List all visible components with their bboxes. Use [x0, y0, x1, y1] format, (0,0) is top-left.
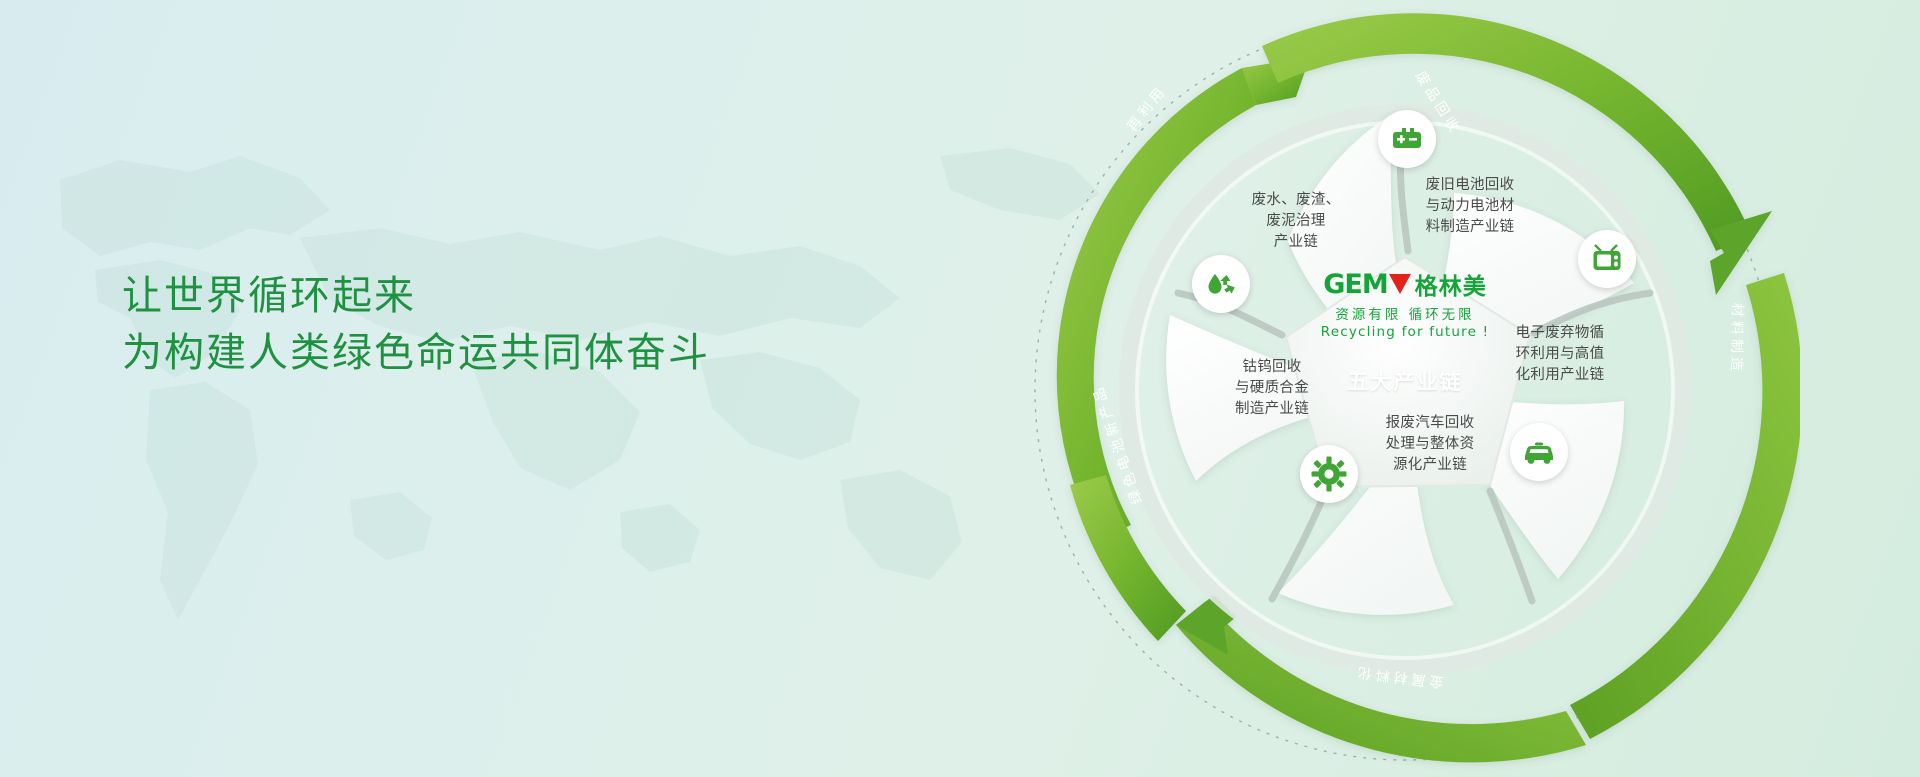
headline-line-2: 为构建人类绿色命运共同体奋斗: [122, 325, 710, 382]
segment-label-battery-chain: 废旧电池回收 与动力电池材 料制造产业链: [1390, 175, 1550, 238]
badge-car[interactable]: [1510, 423, 1568, 481]
water-recycle-icon: [1203, 266, 1239, 302]
segment-label-vehicle-chain: 报废汽车回收 处理与整体资 源化产业链: [1350, 413, 1510, 476]
headline-line-1: 让世界循环起来: [122, 268, 710, 325]
ring-label-material: 材料制造: [1727, 303, 1748, 375]
badge-television[interactable]: [1578, 230, 1636, 288]
badge-water-recycle[interactable]: [1192, 255, 1250, 313]
car-icon: [1521, 434, 1557, 470]
gear-icon: [1311, 456, 1347, 492]
badge-battery[interactable]: [1378, 110, 1436, 168]
gem-logo-mark: GEM: [1323, 269, 1387, 300]
segment-label-ewaste-chain: 电子废弃物循 环利用与高值 化利用产业链: [1480, 323, 1640, 386]
gem-slogan-cn: 资源有限 循环无限: [1290, 303, 1520, 323]
gem-logo-triangle-icon: [1389, 274, 1411, 294]
television-icon: [1590, 242, 1624, 276]
headline: 让世界循环起来 为构建人类绿色命运共同体奋斗: [122, 268, 710, 382]
world-map-background: [0, 60, 1150, 740]
badge-gear[interactable]: [1300, 445, 1358, 503]
segment-label-cobalt-chain: 钴钨回收 与硬质合金 制造产业链: [1192, 357, 1352, 420]
five-industry-chain-diagram: GEM 格林美 资源有限 循环无限 Recycling for future !…: [1010, 5, 1800, 775]
segment-label-water-chain: 废水、废渣、 废泥治理 产业链: [1216, 190, 1376, 253]
gem-logo-chinese: 格林美: [1415, 267, 1487, 301]
battery-icon: [1390, 122, 1424, 156]
